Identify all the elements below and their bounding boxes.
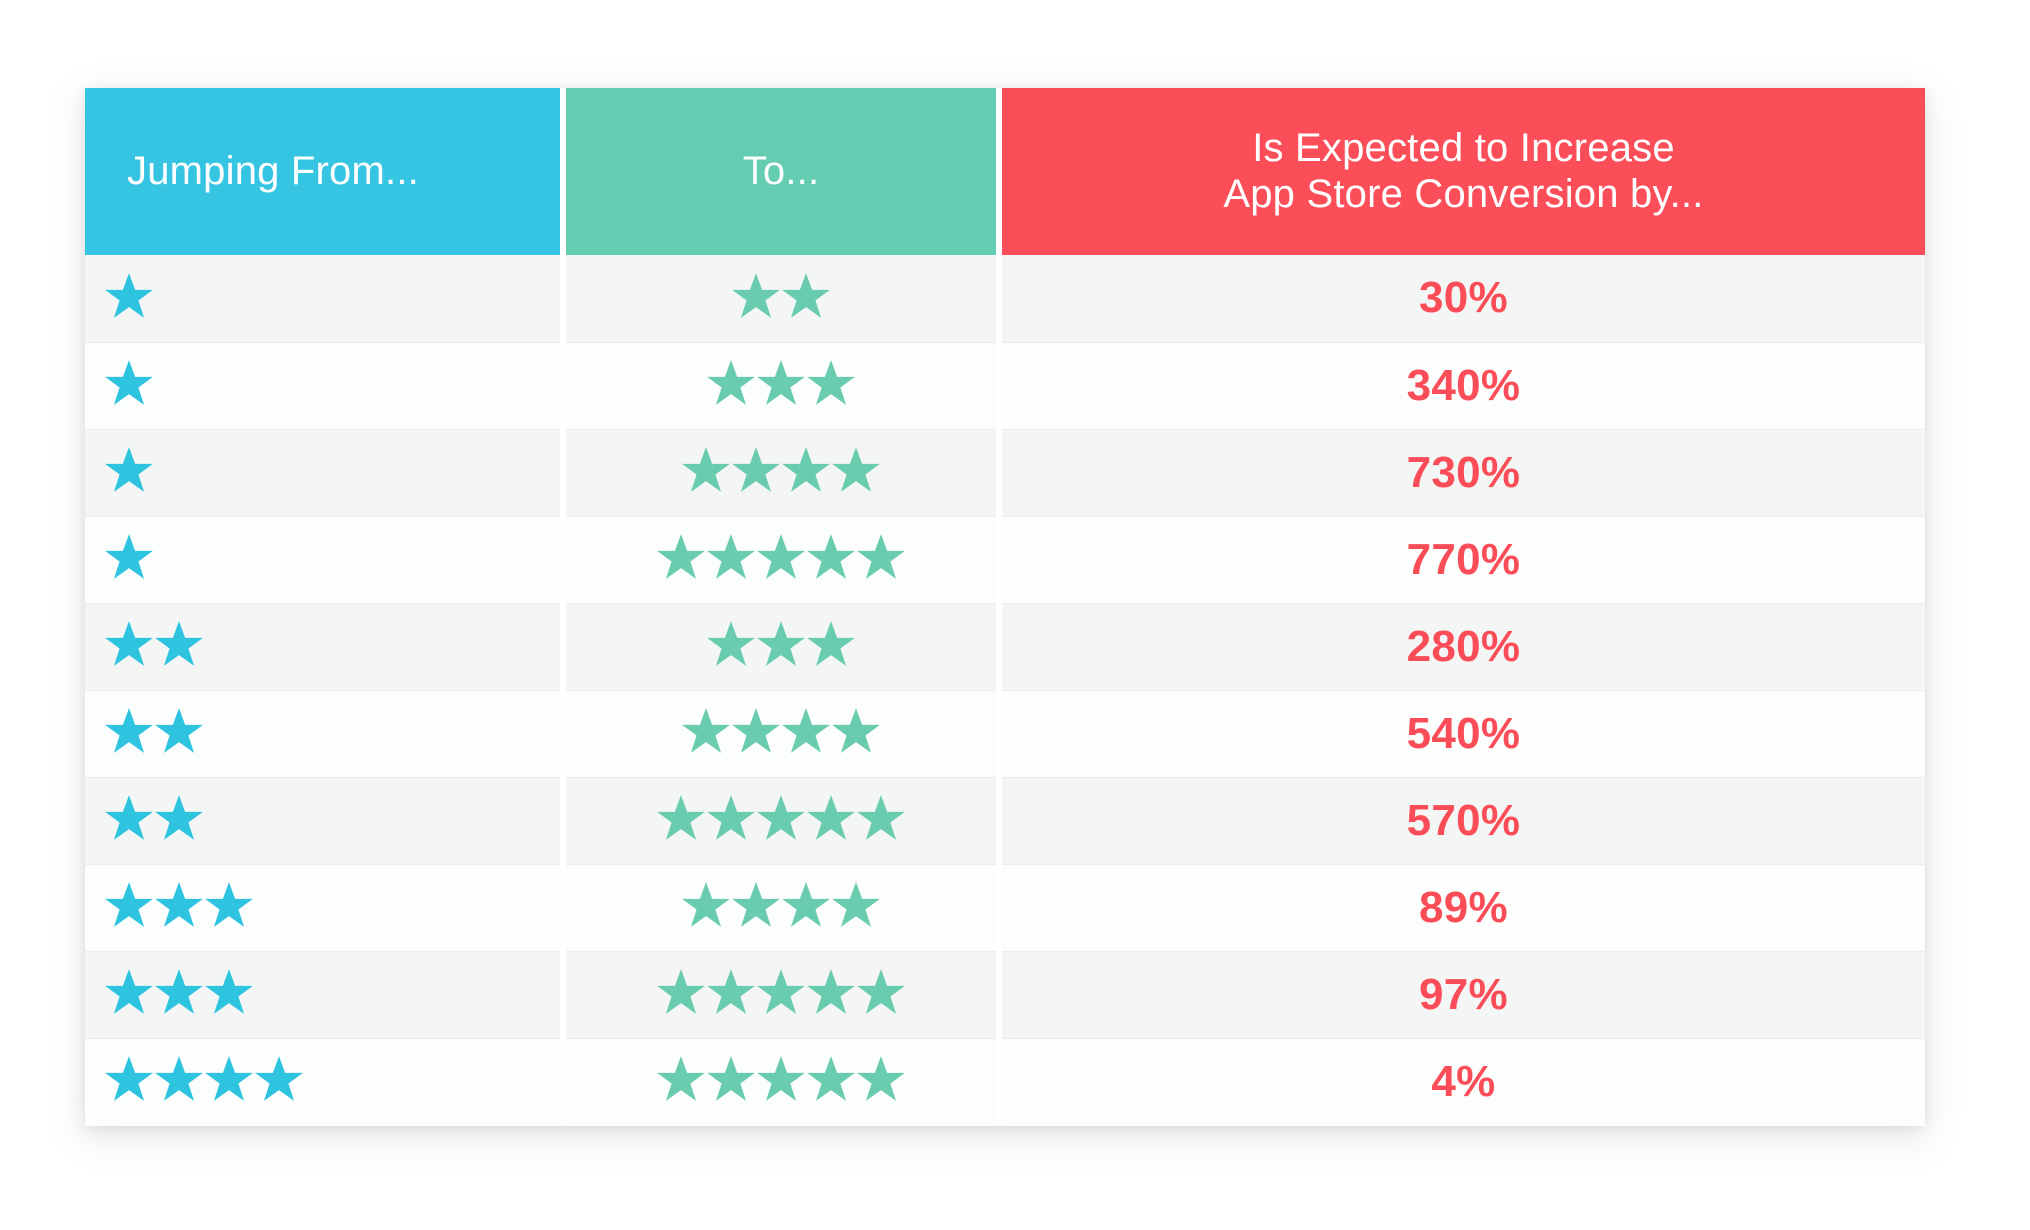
star-icon (203, 879, 255, 931)
column-header-expected-increase-line1: Is Expected to Increase (1020, 126, 1907, 171)
cell-jumping-from (85, 342, 560, 429)
cell-to (566, 342, 996, 429)
star-icon (730, 705, 782, 757)
table-row[interactable]: 770% (85, 516, 1925, 603)
star-icon (153, 618, 205, 670)
star-icon (855, 531, 907, 583)
star-icon (705, 531, 757, 583)
star-icon (153, 792, 205, 844)
percent-value: 4% (1431, 1057, 1495, 1106)
star-icon (103, 270, 155, 322)
star-icon (103, 792, 155, 844)
star-icon (655, 966, 707, 1018)
percent-value: 30% (1419, 273, 1508, 322)
star-icon (655, 792, 707, 844)
table-row[interactable]: 30% (85, 255, 1925, 342)
table-header: Jumping From... To... Is Expected to Inc… (85, 88, 1925, 255)
star-icon (705, 792, 757, 844)
header-row: Jumping From... To... Is Expected to Inc… (85, 88, 1925, 255)
table-row[interactable]: 97% (85, 951, 1925, 1038)
star-icon (805, 1053, 857, 1105)
cell-expected-increase: 89% (1002, 864, 1925, 951)
cell-to (566, 690, 996, 777)
cell-to (566, 951, 996, 1038)
star-icon (153, 966, 205, 1018)
star-icon (855, 792, 907, 844)
star-icon (153, 1053, 205, 1105)
star-icon (103, 618, 155, 670)
percent-value: 280% (1407, 622, 1521, 671)
to-star-rating (655, 1053, 907, 1105)
table-row[interactable]: 280% (85, 603, 1925, 690)
to-star-rating (680, 705, 882, 757)
table-body: 30%340%730%770%280%540%570%89%97%4% (85, 255, 1925, 1125)
star-icon (780, 444, 832, 496)
percent-value: 770% (1407, 535, 1521, 584)
star-icon (103, 357, 155, 409)
star-icon (805, 618, 857, 670)
star-icon (253, 1053, 305, 1105)
column-header-expected-increase-line2: App Store Conversion by... (1020, 172, 1907, 217)
cell-to (566, 1038, 996, 1125)
cell-expected-increase: 97% (1002, 951, 1925, 1038)
percent-value: 570% (1407, 796, 1521, 845)
star-icon (680, 444, 732, 496)
from-star-rating (103, 966, 255, 1018)
to-star-rating (655, 792, 907, 844)
star-icon (655, 531, 707, 583)
percent-value: 97% (1419, 970, 1508, 1019)
cell-to (566, 516, 996, 603)
star-icon (755, 966, 807, 1018)
cell-to (566, 255, 996, 342)
from-star-rating (103, 792, 205, 844)
star-icon (705, 357, 757, 409)
to-star-rating (705, 618, 857, 670)
star-icon (103, 1053, 155, 1105)
cell-expected-increase: 340% (1002, 342, 1925, 429)
to-star-rating (655, 966, 907, 1018)
cell-jumping-from (85, 1038, 560, 1125)
cell-jumping-from (85, 255, 560, 342)
percent-value: 89% (1419, 883, 1508, 932)
star-icon (705, 618, 757, 670)
cell-expected-increase: 4% (1002, 1038, 1925, 1125)
to-star-rating (705, 357, 857, 409)
star-icon (805, 531, 857, 583)
star-icon (103, 966, 155, 1018)
star-icon (103, 879, 155, 931)
to-star-rating (680, 879, 882, 931)
cell-jumping-from (85, 951, 560, 1038)
star-icon (780, 705, 832, 757)
cell-jumping-from (85, 777, 560, 864)
cell-jumping-from (85, 429, 560, 516)
star-icon (203, 1053, 255, 1105)
star-icon (153, 705, 205, 757)
percent-value: 540% (1407, 709, 1521, 758)
cell-expected-increase: 770% (1002, 516, 1925, 603)
star-icon (103, 444, 155, 496)
star-icon (830, 444, 882, 496)
to-star-rating (655, 531, 907, 583)
star-icon (203, 966, 255, 1018)
star-icon (103, 531, 155, 583)
star-icon (153, 879, 205, 931)
star-icon (730, 879, 782, 931)
from-star-rating (103, 444, 155, 496)
star-icon (730, 444, 782, 496)
table-row[interactable]: 730% (85, 429, 1925, 516)
star-icon (780, 270, 832, 322)
table-row[interactable]: 89% (85, 864, 1925, 951)
star-icon (103, 705, 155, 757)
star-icon (855, 966, 907, 1018)
star-icon (755, 531, 807, 583)
star-icon (730, 270, 782, 322)
star-icon (855, 1053, 907, 1105)
from-star-rating (103, 270, 155, 322)
percent-value: 730% (1407, 448, 1521, 497)
column-header-expected-increase[interactable]: Is Expected to Increase App Store Conver… (1002, 88, 1925, 255)
star-icon (805, 966, 857, 1018)
cell-to (566, 429, 996, 516)
column-header-jumping-from[interactable]: Jumping From... (85, 88, 560, 255)
cell-jumping-from (85, 690, 560, 777)
to-star-rating (730, 270, 832, 322)
star-icon (705, 966, 757, 1018)
star-icon (805, 357, 857, 409)
star-icon (830, 879, 882, 931)
table-row[interactable]: 4% (85, 1038, 1925, 1125)
table-row[interactable]: 340% (85, 342, 1925, 429)
from-star-rating (103, 531, 155, 583)
cell-expected-increase: 570% (1002, 777, 1925, 864)
star-icon (755, 1053, 807, 1105)
cell-expected-increase: 730% (1002, 429, 1925, 516)
star-icon (805, 792, 857, 844)
cell-expected-increase: 540% (1002, 690, 1925, 777)
from-star-rating (103, 618, 205, 670)
percent-value: 340% (1407, 361, 1521, 410)
star-icon (755, 792, 807, 844)
star-icon (755, 618, 807, 670)
conversion-table-card: Jumping From... To... Is Expected to Inc… (85, 88, 1925, 1126)
cell-jumping-from (85, 603, 560, 690)
star-icon (680, 879, 732, 931)
cell-to (566, 777, 996, 864)
star-icon (680, 705, 732, 757)
star-icon (830, 705, 882, 757)
star-icon (780, 879, 832, 931)
cell-jumping-from (85, 864, 560, 951)
cell-to (566, 603, 996, 690)
from-star-rating (103, 705, 205, 757)
cell-expected-increase: 30% (1002, 255, 1925, 342)
from-star-rating (103, 1053, 305, 1105)
from-star-rating (103, 357, 155, 409)
page-root: Jumping From... To... Is Expected to Inc… (0, 0, 2030, 1230)
star-icon (705, 1053, 757, 1105)
table-row[interactable]: 570% (85, 777, 1925, 864)
table-row[interactable]: 540% (85, 690, 1925, 777)
conversion-table: Jumping From... To... Is Expected to Inc… (85, 88, 1925, 1125)
star-icon (655, 1053, 707, 1105)
from-star-rating (103, 879, 255, 931)
cell-jumping-from (85, 516, 560, 603)
cell-to (566, 864, 996, 951)
to-star-rating (680, 444, 882, 496)
star-icon (755, 357, 807, 409)
cell-expected-increase: 280% (1002, 603, 1925, 690)
column-header-to[interactable]: To... (566, 88, 996, 255)
